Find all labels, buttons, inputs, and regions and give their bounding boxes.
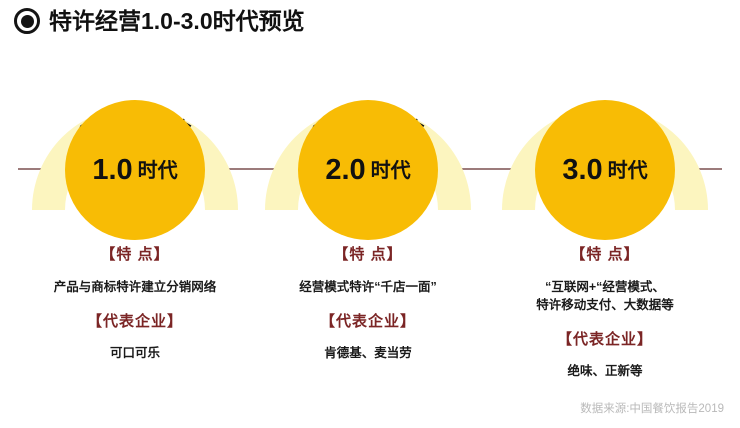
- company-text-1: 可口可乐: [15, 344, 255, 362]
- company-label-2: 【代表企业】: [248, 313, 488, 332]
- source-note: 数据来源:中国餐饮报告2019: [580, 400, 724, 416]
- feature-text-2-line-1: 经营模式特许“千店一面”: [248, 278, 488, 296]
- company-label-1: 【代表企业】: [15, 313, 255, 332]
- era-number-1: 1.0: [92, 156, 132, 185]
- era-graphic-2: 1940年-2010年 2.0 时代: [248, 62, 488, 232]
- era-circle-3[interactable]: 3.0 时代: [535, 100, 675, 240]
- feature-text-1: 产品与商标特许建立分销网络: [15, 278, 255, 296]
- era-suffix-1: 时代: [138, 161, 178, 181]
- era-number-3: 3.0: [562, 156, 602, 185]
- feature-text-3-line-1: “互联网+“经营模式、: [485, 278, 725, 296]
- company-text-2: 肯德基、麦当劳: [248, 344, 488, 362]
- company-text-2-line-1: 肯德基、麦当劳: [248, 344, 488, 362]
- company-text-3-line-1: 绝味、正新等: [485, 362, 725, 380]
- era-column-2[interactable]: 1940年-2010年 2.0 时代 【特 点】 经营模式特许“千店一面” 【代…: [248, 0, 488, 428]
- feature-text-3: “互联网+“经营模式、 特许移动支付、大数据等: [485, 278, 725, 314]
- era-suffix-2: 时代: [371, 161, 411, 181]
- company-text-3: 绝味、正新等: [485, 362, 725, 380]
- feature-text-3-line-2: 特许移动支付、大数据等: [485, 296, 725, 314]
- feature-label-2: 【特 点】: [248, 246, 488, 265]
- feature-text-1-line-1: 产品与商标特许建立分销网络: [15, 278, 255, 296]
- company-label-3: 【代表企业】: [485, 331, 725, 350]
- feature-text-2: 经营模式特许“千店一面”: [248, 278, 488, 296]
- feature-label-1: 【特 点】: [15, 246, 255, 265]
- era-circle-2[interactable]: 2.0 时代: [298, 100, 438, 240]
- era-circle-1[interactable]: 1.0 时代: [65, 100, 205, 240]
- era-graphic-1: 1910年-1940年 1.0 时代: [15, 62, 255, 232]
- era-graphic-3: 2010年-至今 3.0 时代: [485, 62, 725, 232]
- era-suffix-3: 时代: [608, 161, 648, 181]
- era-details-3: 【特 点】 “互联网+“经营模式、 特许移动支付、大数据等 【代表企业】 绝味、…: [485, 246, 725, 380]
- era-details-1: 【特 点】 产品与商标特许建立分销网络 【代表企业】 可口可乐: [15, 246, 255, 362]
- era-column-1[interactable]: 1910年-1940年 1.0 时代 【特 点】 产品与商标特许建立分销网络 【…: [15, 0, 255, 428]
- feature-label-3: 【特 点】: [485, 246, 725, 265]
- era-number-2: 2.0: [325, 156, 365, 185]
- era-details-2: 【特 点】 经营模式特许“千店一面” 【代表企业】 肯德基、麦当劳: [248, 246, 488, 362]
- era-columns: 1910年-1940年 1.0 时代 【特 点】 产品与商标特许建立分销网络 【…: [0, 0, 740, 428]
- company-text-1-line-1: 可口可乐: [15, 344, 255, 362]
- era-column-3[interactable]: 2010年-至今 3.0 时代 【特 点】 “互联网+“经营模式、 特许移动支付…: [485, 0, 725, 428]
